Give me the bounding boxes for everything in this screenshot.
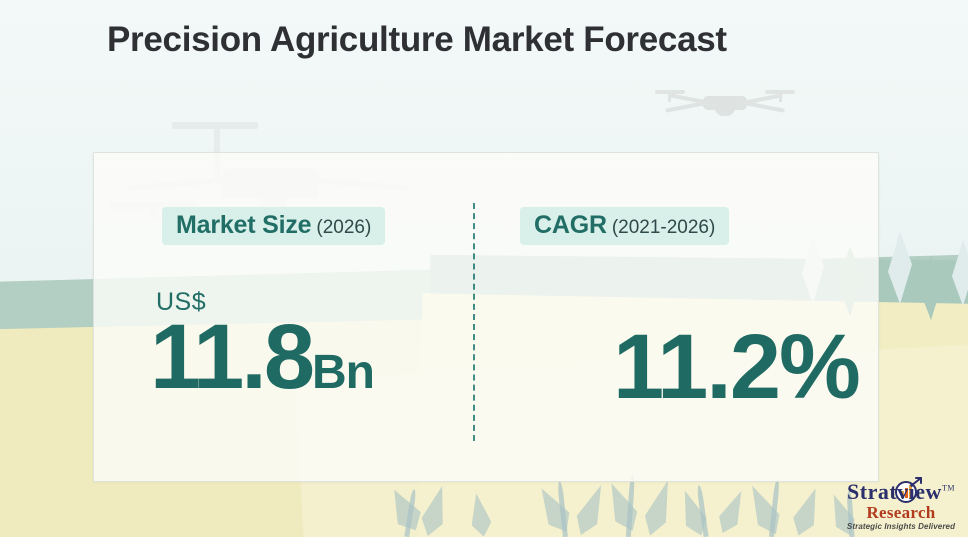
market-size-period: (2026) [316,217,371,238]
logo-brand-text: Stratview [847,479,942,504]
logo-brand: StratviewTM [847,481,955,503]
panel-market-size: Market Size(2026) US$ 11.8Bn [94,153,473,481]
metrics-card: Market Size(2026) US$ 11.8Bn CAGR(2021-2… [93,152,879,482]
logo-subtitle: Research [842,504,960,521]
logo-trademark: TM [942,484,955,493]
market-size-label-pill: Market Size(2026) [162,207,385,245]
market-size-unit: Bn [312,346,374,399]
market-size-value: 11.8Bn [150,306,374,408]
market-size-label: Market Size [176,211,311,239]
cagr-label: CAGR [534,211,607,239]
market-size-value-block: US$ 11.8Bn [150,288,374,403]
panel-cagr: CAGR(2021-2026) 11.2% [475,153,878,481]
infographic-root: Precision Agriculture Market Forecast Ma… [0,0,968,537]
drone-small-right-icon [655,82,795,122]
market-size-number: 11.8 [150,306,312,408]
logo-tagline: Strategic Insights Delivered [842,523,960,531]
cagr-period: (2021-2026) [612,217,716,238]
cagr-label-pill: CAGR(2021-2026) [520,207,729,245]
cagr-value: 11.2% [613,316,859,418]
cagr-value-block: 11.2% [613,321,859,413]
page-title: Precision Agriculture Market Forecast [107,20,727,60]
brand-logo: StratviewTM Research Strategic Insights … [842,481,960,531]
